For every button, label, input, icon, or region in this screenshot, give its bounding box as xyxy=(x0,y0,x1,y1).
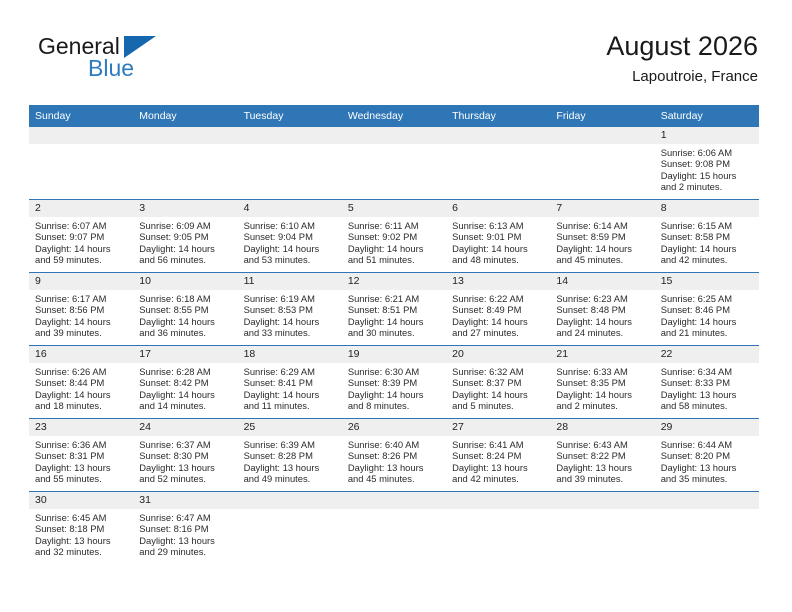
calendar-week-row: 30Sunrise: 6:45 AMSunset: 8:18 PMDayligh… xyxy=(29,492,759,565)
daylight-text-line2: and 33 minutes. xyxy=(244,327,337,338)
day-sun-info: Sunrise: 6:30 AMSunset: 8:39 PMDaylight:… xyxy=(342,363,446,412)
daylight-text-line1: Daylight: 14 hours xyxy=(244,389,337,400)
calendar-day-cell[interactable]: 8Sunrise: 6:15 AMSunset: 8:58 PMDaylight… xyxy=(655,200,759,273)
day-sun-info: Sunrise: 6:41 AMSunset: 8:24 PMDaylight:… xyxy=(446,436,550,485)
page-header: General Blue August 2026 Lapoutroie, Fra… xyxy=(30,30,758,92)
daylight-text-line1: Daylight: 14 hours xyxy=(35,389,128,400)
calendar-day-cell xyxy=(238,492,342,565)
day-number: 30 xyxy=(29,492,133,509)
sunset-text: Sunset: 9:08 PM xyxy=(661,158,754,169)
day-number: 28 xyxy=(550,419,654,436)
general-blue-logo[interactable]: General Blue xyxy=(38,34,238,90)
day-sun-info: Sunrise: 6:15 AMSunset: 8:58 PMDaylight:… xyxy=(655,217,759,266)
weekday-header-tuesday: Tuesday xyxy=(238,105,342,127)
day-cell-empty xyxy=(133,127,237,199)
day-cell: 23Sunrise: 6:36 AMSunset: 8:31 PMDayligh… xyxy=(29,419,133,491)
day-number: 21 xyxy=(550,346,654,363)
sunrise-text: Sunrise: 6:37 AM xyxy=(139,439,232,450)
day-number xyxy=(238,127,342,144)
daylight-text-line1: Daylight: 14 hours xyxy=(35,316,128,327)
calendar-day-cell[interactable]: 18Sunrise: 6:29 AMSunset: 8:41 PMDayligh… xyxy=(238,346,342,419)
calendar-day-cell xyxy=(342,492,446,565)
day-sun-info: Sunrise: 6:23 AMSunset: 8:48 PMDaylight:… xyxy=(550,290,654,339)
day-sun-info: Sunrise: 6:29 AMSunset: 8:41 PMDaylight:… xyxy=(238,363,342,412)
daylight-text-line2: and 49 minutes. xyxy=(244,473,337,484)
day-number: 11 xyxy=(238,273,342,290)
calendar-day-cell xyxy=(550,127,654,200)
daylight-text-line2: and 52 minutes. xyxy=(139,473,232,484)
calendar-page: General Blue August 2026 Lapoutroie, Fra… xyxy=(0,0,792,612)
daylight-text-line2: and 42 minutes. xyxy=(452,473,545,484)
day-sun-info: Sunrise: 6:44 AMSunset: 8:20 PMDaylight:… xyxy=(655,436,759,485)
calendar-day-cell[interactable]: 22Sunrise: 6:34 AMSunset: 8:33 PMDayligh… xyxy=(655,346,759,419)
daylight-text-line1: Daylight: 14 hours xyxy=(244,243,337,254)
calendar-day-cell[interactable]: 16Sunrise: 6:26 AMSunset: 8:44 PMDayligh… xyxy=(29,346,133,419)
sunset-text: Sunset: 9:07 PM xyxy=(35,231,128,242)
calendar-day-cell[interactable]: 31Sunrise: 6:47 AMSunset: 8:16 PMDayligh… xyxy=(133,492,237,565)
sunrise-text: Sunrise: 6:32 AM xyxy=(452,366,545,377)
sunrise-text: Sunrise: 6:28 AM xyxy=(139,366,232,377)
day-sun-info: Sunrise: 6:17 AMSunset: 8:56 PMDaylight:… xyxy=(29,290,133,339)
sunset-text: Sunset: 8:46 PM xyxy=(661,304,754,315)
sunset-text: Sunset: 8:42 PM xyxy=(139,377,232,388)
day-sun-info: Sunrise: 6:14 AMSunset: 8:59 PMDaylight:… xyxy=(550,217,654,266)
day-sun-info: Sunrise: 6:40 AMSunset: 8:26 PMDaylight:… xyxy=(342,436,446,485)
sunset-text: Sunset: 8:37 PM xyxy=(452,377,545,388)
calendar-day-cell[interactable]: 15Sunrise: 6:25 AMSunset: 8:46 PMDayligh… xyxy=(655,273,759,346)
day-cell: 7Sunrise: 6:14 AMSunset: 8:59 PMDaylight… xyxy=(550,200,654,272)
sunset-text: Sunset: 8:53 PM xyxy=(244,304,337,315)
day-number xyxy=(655,492,759,509)
daylight-text-line1: Daylight: 13 hours xyxy=(348,462,441,473)
day-sun-info: Sunrise: 6:34 AMSunset: 8:33 PMDaylight:… xyxy=(655,363,759,412)
sunset-text: Sunset: 8:22 PM xyxy=(556,450,649,461)
day-sun-info: Sunrise: 6:47 AMSunset: 8:16 PMDaylight:… xyxy=(133,509,237,558)
sunset-text: Sunset: 8:35 PM xyxy=(556,377,649,388)
day-sun-info: Sunrise: 6:19 AMSunset: 8:53 PMDaylight:… xyxy=(238,290,342,339)
daylight-text-line2: and 30 minutes. xyxy=(348,327,441,338)
daylight-text-line2: and 42 minutes. xyxy=(661,254,754,265)
sunset-text: Sunset: 9:05 PM xyxy=(139,231,232,242)
day-cell-empty xyxy=(238,492,342,564)
calendar-day-cell[interactable]: 4Sunrise: 6:10 AMSunset: 9:04 PMDaylight… xyxy=(238,200,342,273)
day-cell: 22Sunrise: 6:34 AMSunset: 8:33 PMDayligh… xyxy=(655,346,759,418)
day-cell-empty xyxy=(446,492,550,564)
calendar-day-cell[interactable]: 27Sunrise: 6:41 AMSunset: 8:24 PMDayligh… xyxy=(446,419,550,492)
sunset-text: Sunset: 9:02 PM xyxy=(348,231,441,242)
sunset-text: Sunset: 8:58 PM xyxy=(661,231,754,242)
weekday-header-wednesday: Wednesday xyxy=(342,105,446,127)
calendar-day-cell[interactable]: 26Sunrise: 6:40 AMSunset: 8:26 PMDayligh… xyxy=(342,419,446,492)
day-number: 3 xyxy=(133,200,237,217)
calendar-day-cell[interactable]: 20Sunrise: 6:32 AMSunset: 8:37 PMDayligh… xyxy=(446,346,550,419)
day-number xyxy=(133,127,237,144)
daylight-text-line1: Daylight: 13 hours xyxy=(661,389,754,400)
calendar-day-cell xyxy=(446,127,550,200)
page-title: August 2026 xyxy=(606,30,758,62)
weekday-header-sunday: Sunday xyxy=(29,105,133,127)
day-cell: 16Sunrise: 6:26 AMSunset: 8:44 PMDayligh… xyxy=(29,346,133,418)
daylight-text-line1: Daylight: 14 hours xyxy=(139,389,232,400)
day-number: 15 xyxy=(655,273,759,290)
calendar-day-cell[interactable]: 9Sunrise: 6:17 AMSunset: 8:56 PMDaylight… xyxy=(29,273,133,346)
day-sun-info: Sunrise: 6:09 AMSunset: 9:05 PMDaylight:… xyxy=(133,217,237,266)
sunrise-text: Sunrise: 6:45 AM xyxy=(35,512,128,523)
day-cell: 14Sunrise: 6:23 AMSunset: 8:48 PMDayligh… xyxy=(550,273,654,345)
day-number: 18 xyxy=(238,346,342,363)
sunrise-text: Sunrise: 6:34 AM xyxy=(661,366,754,377)
daylight-text-line1: Daylight: 13 hours xyxy=(35,535,128,546)
daylight-text-line2: and 58 minutes. xyxy=(661,400,754,411)
weekday-header-thursday: Thursday xyxy=(446,105,550,127)
day-sun-info: Sunrise: 6:21 AMSunset: 8:51 PMDaylight:… xyxy=(342,290,446,339)
day-cell: 20Sunrise: 6:32 AMSunset: 8:37 PMDayligh… xyxy=(446,346,550,418)
day-cell: 30Sunrise: 6:45 AMSunset: 8:18 PMDayligh… xyxy=(29,492,133,564)
day-number xyxy=(446,127,550,144)
sunset-text: Sunset: 8:26 PM xyxy=(348,450,441,461)
daylight-text-line2: and 36 minutes. xyxy=(139,327,232,338)
sunrise-text: Sunrise: 6:41 AM xyxy=(452,439,545,450)
sunset-text: Sunset: 8:44 PM xyxy=(35,377,128,388)
sunrise-text: Sunrise: 6:43 AM xyxy=(556,439,649,450)
daylight-text-line1: Daylight: 13 hours xyxy=(661,462,754,473)
sunrise-text: Sunrise: 6:36 AM xyxy=(35,439,128,450)
calendar-day-cell[interactable]: 28Sunrise: 6:43 AMSunset: 8:22 PMDayligh… xyxy=(550,419,654,492)
daylight-text-line1: Daylight: 14 hours xyxy=(348,389,441,400)
day-sun-info: Sunrise: 6:37 AMSunset: 8:30 PMDaylight:… xyxy=(133,436,237,485)
daylight-text-line1: Daylight: 14 hours xyxy=(556,389,649,400)
sunrise-text: Sunrise: 6:18 AM xyxy=(139,293,232,304)
sunrise-text: Sunrise: 6:14 AM xyxy=(556,220,649,231)
daylight-text-line2: and 5 minutes. xyxy=(452,400,545,411)
daylight-text-line1: Daylight: 14 hours xyxy=(556,243,649,254)
calendar-day-cell[interactable]: 19Sunrise: 6:30 AMSunset: 8:39 PMDayligh… xyxy=(342,346,446,419)
daylight-text-line2: and 29 minutes. xyxy=(139,546,232,557)
daylight-text-line2: and 51 minutes. xyxy=(348,254,441,265)
sunrise-text: Sunrise: 6:11 AM xyxy=(348,220,441,231)
calendar-day-cell[interactable]: 2Sunrise: 6:07 AMSunset: 9:07 PMDaylight… xyxy=(29,200,133,273)
day-number: 4 xyxy=(238,200,342,217)
day-sun-info: Sunrise: 6:28 AMSunset: 8:42 PMDaylight:… xyxy=(133,363,237,412)
calendar-day-cell xyxy=(342,127,446,200)
sunset-text: Sunset: 8:30 PM xyxy=(139,450,232,461)
day-cell: 3Sunrise: 6:09 AMSunset: 9:05 PMDaylight… xyxy=(133,200,237,272)
sunset-text: Sunset: 8:28 PM xyxy=(244,450,337,461)
calendar-day-cell[interactable]: 23Sunrise: 6:36 AMSunset: 8:31 PMDayligh… xyxy=(29,419,133,492)
day-number xyxy=(342,127,446,144)
day-sun-info: Sunrise: 6:13 AMSunset: 9:01 PMDaylight:… xyxy=(446,217,550,266)
day-sun-info: Sunrise: 6:11 AMSunset: 9:02 PMDaylight:… xyxy=(342,217,446,266)
sunrise-text: Sunrise: 6:21 AM xyxy=(348,293,441,304)
day-cell: 19Sunrise: 6:30 AMSunset: 8:39 PMDayligh… xyxy=(342,346,446,418)
day-cell-empty xyxy=(550,492,654,564)
day-sun-info: Sunrise: 6:32 AMSunset: 8:37 PMDaylight:… xyxy=(446,363,550,412)
daylight-text-line1: Daylight: 14 hours xyxy=(139,243,232,254)
daylight-text-line1: Daylight: 13 hours xyxy=(452,462,545,473)
sunrise-text: Sunrise: 6:07 AM xyxy=(35,220,128,231)
day-number: 26 xyxy=(342,419,446,436)
sunrise-text: Sunrise: 6:23 AM xyxy=(556,293,649,304)
daylight-text-line1: Daylight: 14 hours xyxy=(661,243,754,254)
daylight-text-line2: and 56 minutes. xyxy=(139,254,232,265)
sunset-text: Sunset: 9:04 PM xyxy=(244,231,337,242)
day-sun-info: Sunrise: 6:33 AMSunset: 8:35 PMDaylight:… xyxy=(550,363,654,412)
day-cell: 26Sunrise: 6:40 AMSunset: 8:26 PMDayligh… xyxy=(342,419,446,491)
calendar-day-cell[interactable]: 25Sunrise: 6:39 AMSunset: 8:28 PMDayligh… xyxy=(238,419,342,492)
calendar-week-row: 1Sunrise: 6:06 AMSunset: 9:08 PMDaylight… xyxy=(29,127,759,200)
calendar-day-cell[interactable]: 12Sunrise: 6:21 AMSunset: 8:51 PMDayligh… xyxy=(342,273,446,346)
daylight-text-line1: Daylight: 13 hours xyxy=(35,462,128,473)
daylight-text-line2: and 32 minutes. xyxy=(35,546,128,557)
daylight-text-line2: and 18 minutes. xyxy=(35,400,128,411)
daylight-text-line1: Daylight: 14 hours xyxy=(348,243,441,254)
daylight-text-line2: and 24 minutes. xyxy=(556,327,649,338)
day-cell-empty xyxy=(238,127,342,199)
day-number xyxy=(29,127,133,144)
sunrise-text: Sunrise: 6:26 AM xyxy=(35,366,128,377)
day-cell: 4Sunrise: 6:10 AMSunset: 9:04 PMDaylight… xyxy=(238,200,342,272)
sunrise-text: Sunrise: 6:22 AM xyxy=(452,293,545,304)
day-sun-info: Sunrise: 6:18 AMSunset: 8:55 PMDaylight:… xyxy=(133,290,237,339)
day-cell: 8Sunrise: 6:15 AMSunset: 8:58 PMDaylight… xyxy=(655,200,759,272)
calendar-week-row: 23Sunrise: 6:36 AMSunset: 8:31 PMDayligh… xyxy=(29,419,759,492)
day-cell: 15Sunrise: 6:25 AMSunset: 8:46 PMDayligh… xyxy=(655,273,759,345)
daylight-text-line1: Daylight: 14 hours xyxy=(139,316,232,327)
day-cell: 2Sunrise: 6:07 AMSunset: 9:07 PMDaylight… xyxy=(29,200,133,272)
weekday-header-monday: Monday xyxy=(133,105,237,127)
day-cell: 6Sunrise: 6:13 AMSunset: 9:01 PMDaylight… xyxy=(446,200,550,272)
calendar-day-cell[interactable]: 3Sunrise: 6:09 AMSunset: 9:05 PMDaylight… xyxy=(133,200,237,273)
calendar-day-cell xyxy=(446,492,550,565)
day-cell: 13Sunrise: 6:22 AMSunset: 8:49 PMDayligh… xyxy=(446,273,550,345)
daylight-text-line2: and 27 minutes. xyxy=(452,327,545,338)
sunset-text: Sunset: 8:39 PM xyxy=(348,377,441,388)
daylight-text-line1: Daylight: 13 hours xyxy=(556,462,649,473)
daylight-text-line2: and 2 minutes. xyxy=(556,400,649,411)
day-sun-info: Sunrise: 6:10 AMSunset: 9:04 PMDaylight:… xyxy=(238,217,342,266)
calendar-day-cell[interactable]: 7Sunrise: 6:14 AMSunset: 8:59 PMDaylight… xyxy=(550,200,654,273)
daylight-text-line1: Daylight: 14 hours xyxy=(556,316,649,327)
day-cell: 18Sunrise: 6:29 AMSunset: 8:41 PMDayligh… xyxy=(238,346,342,418)
daylight-text-line2: and 48 minutes. xyxy=(452,254,545,265)
daylight-text-line2: and 45 minutes. xyxy=(348,473,441,484)
day-number xyxy=(550,127,654,144)
day-sun-info: Sunrise: 6:43 AMSunset: 8:22 PMDaylight:… xyxy=(550,436,654,485)
day-number: 2 xyxy=(29,200,133,217)
sunrise-text: Sunrise: 6:25 AM xyxy=(661,293,754,304)
daylight-text-line2: and 14 minutes. xyxy=(139,400,232,411)
sunset-text: Sunset: 8:49 PM xyxy=(452,304,545,315)
day-cell: 12Sunrise: 6:21 AMSunset: 8:51 PMDayligh… xyxy=(342,273,446,345)
calendar-day-cell[interactable]: 29Sunrise: 6:44 AMSunset: 8:20 PMDayligh… xyxy=(655,419,759,492)
calendar-day-cell xyxy=(133,127,237,200)
weekday-header-saturday: Saturday xyxy=(655,105,759,127)
sunset-text: Sunset: 8:55 PM xyxy=(139,304,232,315)
day-cell: 5Sunrise: 6:11 AMSunset: 9:02 PMDaylight… xyxy=(342,200,446,272)
daylight-text-line2: and 45 minutes. xyxy=(556,254,649,265)
day-number: 27 xyxy=(446,419,550,436)
day-sun-info: Sunrise: 6:06 AMSunset: 9:08 PMDaylight:… xyxy=(655,144,759,193)
sunset-text: Sunset: 8:56 PM xyxy=(35,304,128,315)
day-cell: 29Sunrise: 6:44 AMSunset: 8:20 PMDayligh… xyxy=(655,419,759,491)
daylight-text-line1: Daylight: 13 hours xyxy=(139,535,232,546)
daylight-text-line1: Daylight: 14 hours xyxy=(661,316,754,327)
day-number: 10 xyxy=(133,273,237,290)
sunrise-text: Sunrise: 6:39 AM xyxy=(244,439,337,450)
sunset-text: Sunset: 9:01 PM xyxy=(452,231,545,242)
calendar-day-cell[interactable]: 21Sunrise: 6:33 AMSunset: 8:35 PMDayligh… xyxy=(550,346,654,419)
calendar-header-row: Sunday Monday Tuesday Wednesday Thursday… xyxy=(29,105,759,127)
sunrise-text: Sunrise: 6:33 AM xyxy=(556,366,649,377)
daylight-text-line1: Daylight: 14 hours xyxy=(35,243,128,254)
day-cell: 21Sunrise: 6:33 AMSunset: 8:35 PMDayligh… xyxy=(550,346,654,418)
sunset-text: Sunset: 8:33 PM xyxy=(661,377,754,388)
day-number: 23 xyxy=(29,419,133,436)
calendar-day-cell xyxy=(550,492,654,565)
day-sun-info: Sunrise: 6:36 AMSunset: 8:31 PMDaylight:… xyxy=(29,436,133,485)
title-block: August 2026 Lapoutroie, France xyxy=(606,30,758,87)
sunset-text: Sunset: 8:31 PM xyxy=(35,450,128,461)
daylight-text-line1: Daylight: 14 hours xyxy=(348,316,441,327)
day-cell: 28Sunrise: 6:43 AMSunset: 8:22 PMDayligh… xyxy=(550,419,654,491)
day-number: 7 xyxy=(550,200,654,217)
day-sun-info: Sunrise: 6:25 AMSunset: 8:46 PMDaylight:… xyxy=(655,290,759,339)
sunrise-text: Sunrise: 6:13 AM xyxy=(452,220,545,231)
day-number: 13 xyxy=(446,273,550,290)
day-number: 16 xyxy=(29,346,133,363)
daylight-text-line1: Daylight: 13 hours xyxy=(244,462,337,473)
sunrise-text: Sunrise: 6:17 AM xyxy=(35,293,128,304)
day-number xyxy=(446,492,550,509)
sunrise-text: Sunrise: 6:09 AM xyxy=(139,220,232,231)
sunrise-text: Sunrise: 6:10 AM xyxy=(244,220,337,231)
calendar-day-cell xyxy=(238,127,342,200)
day-number xyxy=(238,492,342,509)
day-sun-info: Sunrise: 6:39 AMSunset: 8:28 PMDaylight:… xyxy=(238,436,342,485)
day-number xyxy=(550,492,654,509)
calendar-day-cell xyxy=(29,127,133,200)
day-sun-info: Sunrise: 6:22 AMSunset: 8:49 PMDaylight:… xyxy=(446,290,550,339)
sunrise-text: Sunrise: 6:29 AM xyxy=(244,366,337,377)
weekday-header-friday: Friday xyxy=(550,105,654,127)
calendar-day-cell[interactable]: 10Sunrise: 6:18 AMSunset: 8:55 PMDayligh… xyxy=(133,273,237,346)
day-cell: 24Sunrise: 6:37 AMSunset: 8:30 PMDayligh… xyxy=(133,419,237,491)
day-cell-empty xyxy=(655,492,759,564)
day-number xyxy=(342,492,446,509)
daylight-text-line1: Daylight: 14 hours xyxy=(244,316,337,327)
sunrise-text: Sunrise: 6:30 AM xyxy=(348,366,441,377)
day-cell: 27Sunrise: 6:41 AMSunset: 8:24 PMDayligh… xyxy=(446,419,550,491)
logo-text-blue: Blue xyxy=(88,56,238,80)
day-sun-info: Sunrise: 6:45 AMSunset: 8:18 PMDaylight:… xyxy=(29,509,133,558)
sunset-text: Sunset: 8:20 PM xyxy=(661,450,754,461)
calendar-body: 1Sunrise: 6:06 AMSunset: 9:08 PMDaylight… xyxy=(29,127,759,564)
sunrise-text: Sunrise: 6:15 AM xyxy=(661,220,754,231)
day-sun-info: Sunrise: 6:07 AMSunset: 9:07 PMDaylight:… xyxy=(29,217,133,266)
sunset-text: Sunset: 8:51 PM xyxy=(348,304,441,315)
day-cell: 25Sunrise: 6:39 AMSunset: 8:28 PMDayligh… xyxy=(238,419,342,491)
day-cell: 10Sunrise: 6:18 AMSunset: 8:55 PMDayligh… xyxy=(133,273,237,345)
day-cell: 11Sunrise: 6:19 AMSunset: 8:53 PMDayligh… xyxy=(238,273,342,345)
day-number: 31 xyxy=(133,492,237,509)
sunrise-text: Sunrise: 6:40 AM xyxy=(348,439,441,450)
day-number: 29 xyxy=(655,419,759,436)
day-number: 6 xyxy=(446,200,550,217)
daylight-text-line1: Daylight: 13 hours xyxy=(139,462,232,473)
sunrise-text: Sunrise: 6:47 AM xyxy=(139,512,232,523)
sunset-text: Sunset: 8:48 PM xyxy=(556,304,649,315)
calendar-day-cell[interactable]: 6Sunrise: 6:13 AMSunset: 9:01 PMDaylight… xyxy=(446,200,550,273)
day-cell-empty xyxy=(342,492,446,564)
day-number: 17 xyxy=(133,346,237,363)
daylight-text-line1: Daylight: 14 hours xyxy=(452,316,545,327)
calendar-week-row: 16Sunrise: 6:26 AMSunset: 8:44 PMDayligh… xyxy=(29,346,759,419)
day-number: 22 xyxy=(655,346,759,363)
day-cell-empty xyxy=(550,127,654,199)
calendar-day-cell[interactable]: 30Sunrise: 6:45 AMSunset: 8:18 PMDayligh… xyxy=(29,492,133,565)
day-cell-empty xyxy=(29,127,133,199)
daylight-text-line2: and 53 minutes. xyxy=(244,254,337,265)
day-number: 19 xyxy=(342,346,446,363)
day-cell-empty xyxy=(342,127,446,199)
day-cell: 31Sunrise: 6:47 AMSunset: 8:16 PMDayligh… xyxy=(133,492,237,564)
sunset-text: Sunset: 8:41 PM xyxy=(244,377,337,388)
page-subtitle-location: Lapoutroie, France xyxy=(606,67,758,87)
day-number: 1 xyxy=(655,127,759,144)
daylight-text-line2: and 35 minutes. xyxy=(661,473,754,484)
calendar-day-cell[interactable]: 17Sunrise: 6:28 AMSunset: 8:42 PMDayligh… xyxy=(133,346,237,419)
daylight-text-line2: and 39 minutes. xyxy=(35,327,128,338)
sunset-text: Sunset: 8:24 PM xyxy=(452,450,545,461)
sunset-text: Sunset: 8:59 PM xyxy=(556,231,649,242)
day-sun-info: Sunrise: 6:26 AMSunset: 8:44 PMDaylight:… xyxy=(29,363,133,412)
calendar-day-cell[interactable]: 11Sunrise: 6:19 AMSunset: 8:53 PMDayligh… xyxy=(238,273,342,346)
daylight-text-line2: and 11 minutes. xyxy=(244,400,337,411)
daylight-text-line2: and 8 minutes. xyxy=(348,400,441,411)
daylight-text-line2: and 59 minutes. xyxy=(35,254,128,265)
daylight-text-line2: and 55 minutes. xyxy=(35,473,128,484)
calendar-day-cell[interactable]: 24Sunrise: 6:37 AMSunset: 8:30 PMDayligh… xyxy=(133,419,237,492)
day-cell: 9Sunrise: 6:17 AMSunset: 8:56 PMDaylight… xyxy=(29,273,133,345)
sunrise-text: Sunrise: 6:19 AM xyxy=(244,293,337,304)
day-number: 8 xyxy=(655,200,759,217)
day-number: 5 xyxy=(342,200,446,217)
calendar-day-cell[interactable]: 5Sunrise: 6:11 AMSunset: 9:02 PMDaylight… xyxy=(342,200,446,273)
daylight-text-line2: and 21 minutes. xyxy=(661,327,754,338)
day-number: 25 xyxy=(238,419,342,436)
daylight-text-line1: Daylight: 14 hours xyxy=(452,389,545,400)
daylight-text-line2: and 39 minutes. xyxy=(556,473,649,484)
calendar-day-cell xyxy=(655,492,759,565)
day-number: 14 xyxy=(550,273,654,290)
day-number: 24 xyxy=(133,419,237,436)
sunrise-text: Sunrise: 6:06 AM xyxy=(661,147,754,158)
sunset-text: Sunset: 8:18 PM xyxy=(35,523,128,534)
daylight-text-line1: Daylight: 15 hours xyxy=(661,170,754,181)
calendar-day-cell[interactable]: 14Sunrise: 6:23 AMSunset: 8:48 PMDayligh… xyxy=(550,273,654,346)
day-number: 12 xyxy=(342,273,446,290)
daylight-text-line1: Daylight: 14 hours xyxy=(452,243,545,254)
calendar-table: Sunday Monday Tuesday Wednesday Thursday… xyxy=(29,105,759,564)
calendar-week-row: 2Sunrise: 6:07 AMSunset: 9:07 PMDaylight… xyxy=(29,200,759,273)
calendar-day-cell[interactable]: 1Sunrise: 6:06 AMSunset: 9:08 PMDaylight… xyxy=(655,127,759,200)
day-cell: 17Sunrise: 6:28 AMSunset: 8:42 PMDayligh… xyxy=(133,346,237,418)
calendar-day-cell[interactable]: 13Sunrise: 6:22 AMSunset: 8:49 PMDayligh… xyxy=(446,273,550,346)
day-number: 9 xyxy=(29,273,133,290)
sunset-text: Sunset: 8:16 PM xyxy=(139,523,232,534)
day-cell-empty xyxy=(446,127,550,199)
daylight-text-line2: and 2 minutes. xyxy=(661,181,754,192)
